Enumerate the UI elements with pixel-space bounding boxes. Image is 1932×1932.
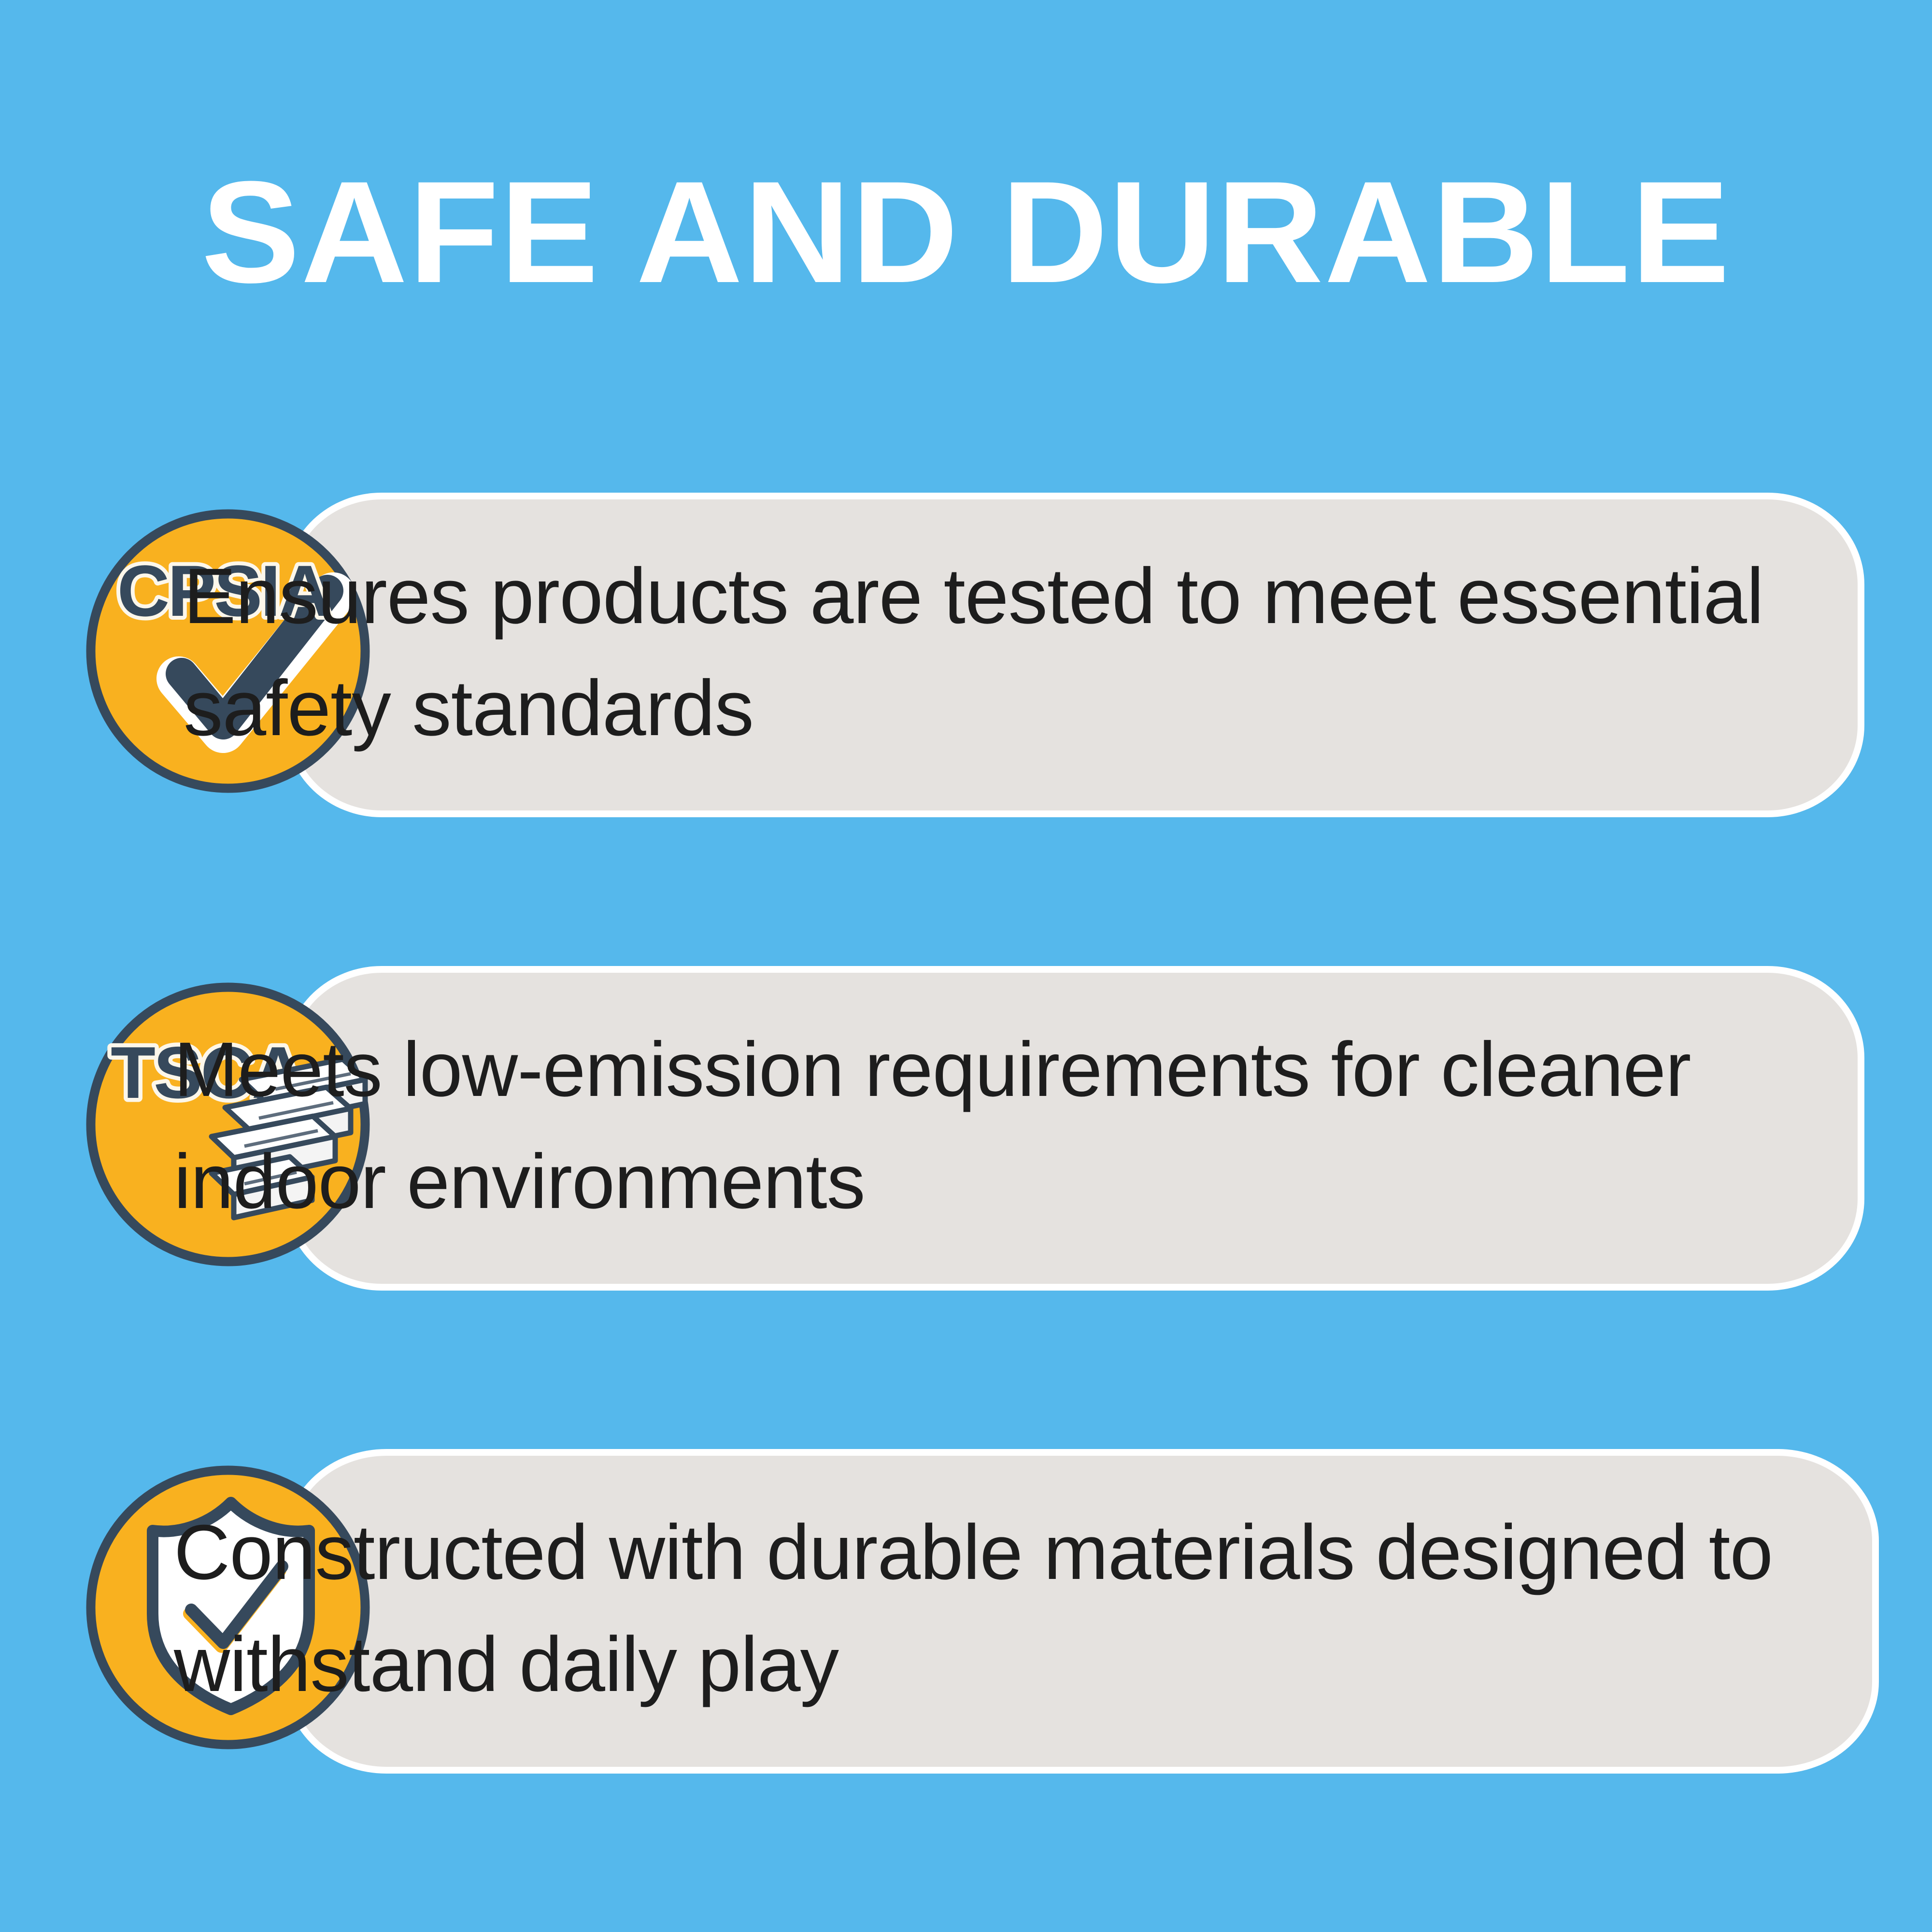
page-title: SAFE AND DURABLE — [0, 159, 1932, 304]
feature-text: Meets low-emission requirements for clea… — [174, 1013, 1874, 1237]
infographic-page: SAFE AND DURABLE CPSIA CPSIA Ensures pro… — [0, 0, 1932, 1932]
feature-row-durability: Constructed with durable materials desig… — [0, 1439, 1932, 1777]
feature-row-tsca: TSCA TSCA — [0, 956, 1932, 1294]
feature-text: Constructed with durable materials desig… — [174, 1496, 1874, 1720]
feature-row-cpsia: CPSIA CPSIA Ensures products are tested … — [0, 483, 1932, 821]
feature-text: Ensures products are tested to meet esse… — [184, 540, 1874, 764]
